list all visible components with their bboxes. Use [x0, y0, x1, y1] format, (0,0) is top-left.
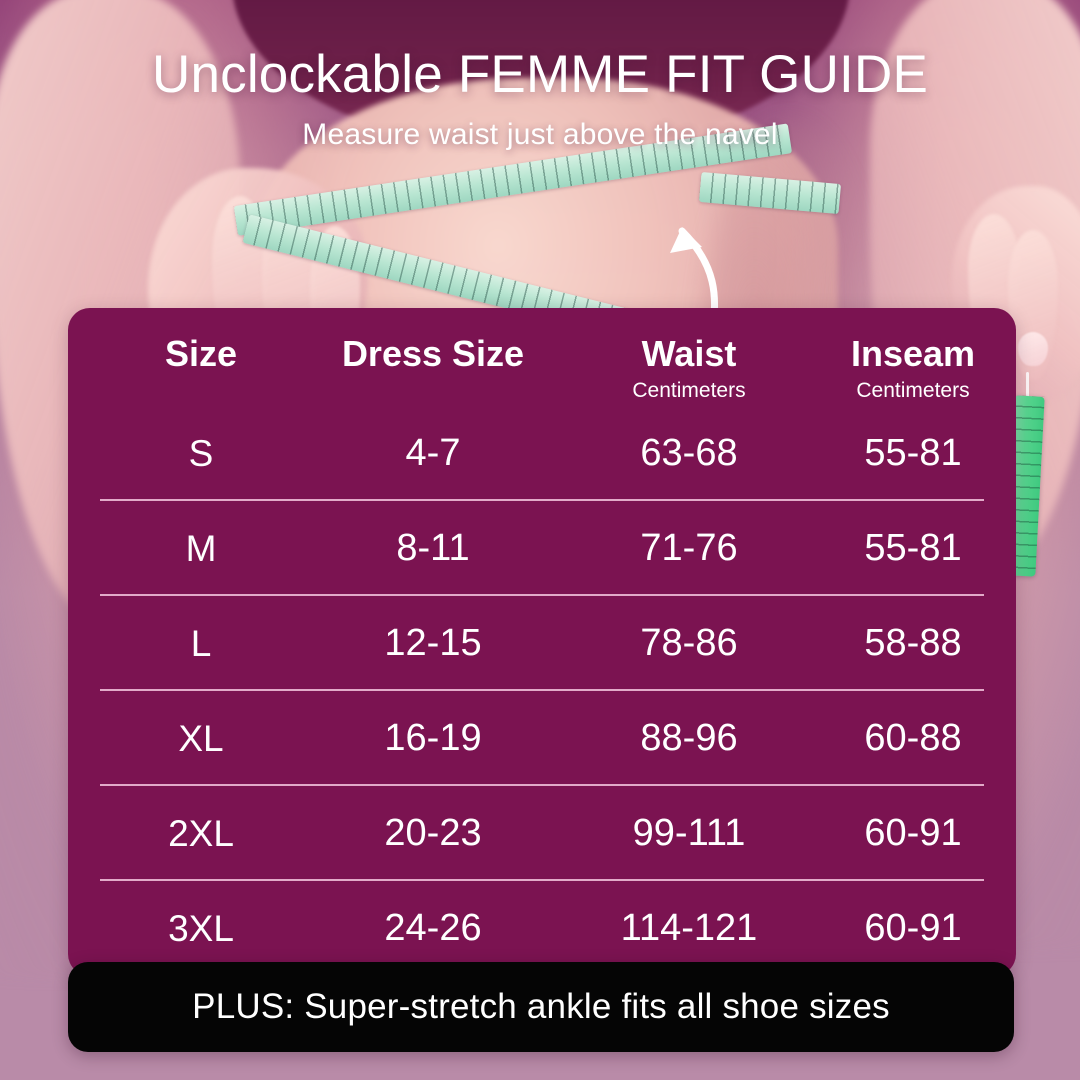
table-row: S 4-7 63-68 55-81	[68, 406, 1016, 501]
right-nail-2	[1018, 332, 1048, 366]
column-header-inseam-unit: Centimeters	[810, 380, 1016, 401]
page-title: Unclockable FEMME FIT GUIDE	[0, 44, 1080, 105]
cell-dress-size: 8-11	[298, 501, 568, 596]
column-header-waist-label: Waist	[568, 336, 810, 372]
table-row: L 12-15 78-86 58-88	[68, 596, 1016, 691]
cell-waist: 88-96	[568, 691, 810, 786]
column-header-inseam-label: Inseam	[810, 336, 1016, 372]
table-row: 2XL 20-23 99-111 60-91	[68, 786, 1016, 881]
column-header-waist: Waist Centimeters	[568, 336, 810, 401]
cell-dress-size: 4-7	[298, 406, 568, 501]
cell-dress-size: 16-19	[298, 691, 568, 786]
column-header-size: Size	[104, 336, 298, 380]
column-header-dress-size: Dress Size	[298, 336, 568, 380]
column-header-waist-unit: Centimeters	[568, 380, 810, 401]
table-row: XL 16-19 88-96 60-88	[68, 691, 1016, 786]
cell-waist: 71-76	[568, 501, 810, 596]
cell-size: 2XL	[104, 786, 298, 881]
cell-waist: 99-111	[568, 786, 810, 881]
column-header-inseam: Inseam Centimeters	[810, 336, 1016, 401]
column-header-dress-size-label: Dress Size	[298, 336, 568, 372]
cell-inseam: 58-88	[810, 596, 1016, 691]
cell-inseam: 55-81	[810, 406, 1016, 501]
footer-note-text: PLUS: Super-stretch ankle fits all shoe …	[192, 987, 890, 1027]
cell-waist: 78-86	[568, 596, 810, 691]
cell-dress-size: 12-15	[298, 596, 568, 691]
size-chart-card: Size Dress Size Waist Centimeters Inseam…	[68, 308, 1016, 976]
page-subtitle: Measure waist just above the navel	[0, 118, 1080, 152]
cell-waist: 63-68	[568, 406, 810, 501]
cell-dress-size: 20-23	[298, 786, 568, 881]
cell-size: M	[104, 501, 298, 596]
cell-size: L	[104, 596, 298, 691]
cell-size: S	[104, 406, 298, 501]
cell-inseam: 60-91	[810, 786, 1016, 881]
cell-inseam: 60-88	[810, 691, 1016, 786]
footer-note-banner: PLUS: Super-stretch ankle fits all shoe …	[68, 962, 1014, 1052]
cell-size: XL	[104, 691, 298, 786]
table-body: S 4-7 63-68 55-81 M 8-11 71-76 55-81 L 1…	[68, 406, 1016, 976]
cell-inseam: 55-81	[810, 501, 1016, 596]
fit-guide-infographic: Unclockable FEMME FIT GUIDE Measure wais…	[0, 0, 1080, 1080]
column-header-size-label: Size	[104, 336, 298, 372]
table-header-row: Size Dress Size Waist Centimeters Inseam…	[68, 336, 1016, 416]
table-row: M 8-11 71-76 55-81	[68, 501, 1016, 596]
